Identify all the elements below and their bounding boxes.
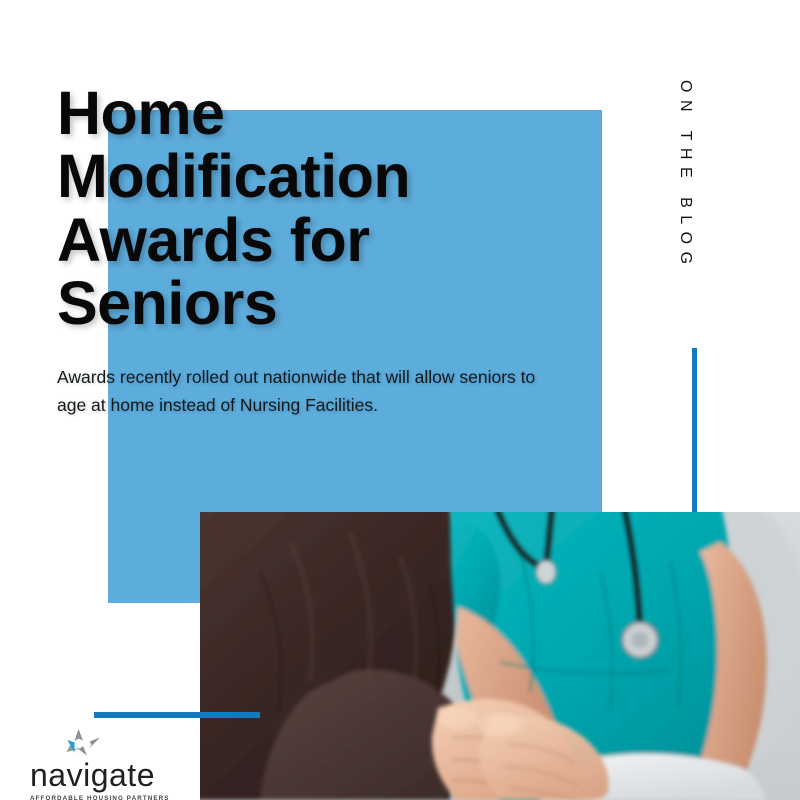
vertical-accent-rule (692, 348, 697, 512)
logo-wordmark: navigate (30, 759, 210, 791)
poster-canvas: Home Modification Awards for Seniors Awa… (0, 0, 800, 800)
logo-tagline: AFFORDABLE HOUSING PARTNERS (30, 796, 210, 800)
subtitle-text: Awards recently rolled out nationwide th… (57, 363, 557, 420)
page-title: Home Modification Awards for Seniors (57, 82, 487, 336)
kicker: ON THE BLOG (665, 80, 705, 300)
logo[interactable]: navigate AFFORDABLE HOUSING PARTNERS (30, 728, 210, 800)
kicker-label: ON THE BLOG (676, 80, 694, 272)
hero-photo (200, 512, 800, 800)
horizontal-accent-rule (94, 712, 260, 718)
compass-star-icon (56, 728, 102, 758)
